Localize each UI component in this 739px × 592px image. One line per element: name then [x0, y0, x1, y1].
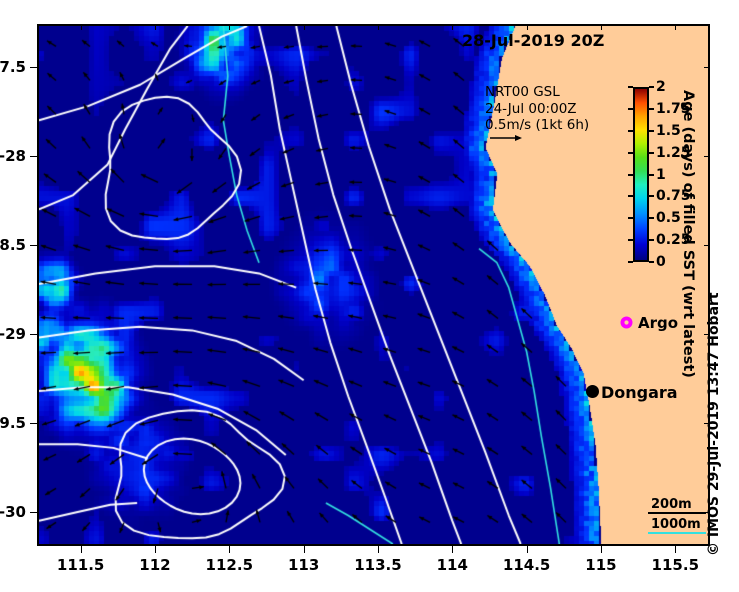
colorbar-tick-label: 2 — [656, 79, 666, 95]
x-axis-tick-top — [155, 24, 156, 30]
y-axis-tick-right — [704, 156, 710, 157]
colorbar-tick-left — [628, 217, 633, 219]
y-axis-tick — [30, 423, 37, 424]
y-axis-tick-right — [704, 245, 710, 246]
colorbar-tick-label: 1.5 — [656, 123, 681, 139]
dongara-city-dot-icon[interactable] — [586, 385, 599, 398]
y-axis-tick — [30, 156, 37, 157]
bathymetry-depth-key: 200m 1000m — [648, 497, 710, 537]
x-axis-label: 113 — [288, 556, 319, 574]
colorbar-tick-left — [628, 108, 633, 110]
colorbar-tick — [649, 152, 654, 154]
x-axis-tick — [304, 546, 305, 553]
colorbar-tick-left — [628, 195, 633, 197]
colorbar-tick-label: 0.5 — [656, 210, 681, 226]
colorbar-tick — [649, 261, 654, 263]
x-axis-tick — [675, 546, 676, 553]
argo-float-star-icon[interactable] — [620, 316, 633, 329]
x-axis-tick — [155, 546, 156, 553]
gsl-speed-label: 0.5m/s (1kt 6h) — [485, 117, 589, 134]
colorbar-tick-left — [628, 239, 633, 241]
colorbar-tick — [649, 239, 654, 241]
gsl-datetime-label: 24-Jul 00:00Z — [485, 101, 589, 118]
y-axis-label: -28 — [0, 147, 26, 165]
colorbar-tick — [649, 174, 654, 176]
colorbar-tick — [649, 195, 654, 197]
velocity-scale-arrow-icon — [489, 133, 523, 143]
dongara-marker-label: Dongara — [601, 383, 678, 402]
depth-key-200m-label: 200m — [651, 497, 692, 512]
depth-key-1000m-label: 1000m — [651, 517, 701, 532]
x-axis-tick-top — [527, 24, 528, 30]
x-axis-tick — [229, 546, 230, 553]
y-axis-tick — [30, 245, 37, 246]
y-axis-label: -28.5 — [0, 236, 26, 254]
y-axis-label: -30 — [0, 503, 26, 521]
x-axis-tick — [452, 546, 453, 553]
map-title-date: 28-Jul-2019 20Z — [462, 31, 604, 50]
colorbar-axis-label: Age (days) of filled SST (wrt latest) — [680, 90, 696, 378]
x-axis-tick — [81, 546, 82, 553]
x-axis-tick-top — [378, 24, 379, 30]
y-axis-label: -27.5 — [0, 58, 26, 76]
colorbar-tick-label: 0 — [656, 254, 666, 270]
colorbar-tick-left — [628, 130, 633, 132]
y-axis-tick — [30, 67, 37, 68]
x-axis-label: 112.5 — [206, 556, 253, 574]
colorbar-tick — [649, 217, 654, 219]
colorbar-tick-left — [628, 174, 633, 176]
gsl-annotation-block: NRT00 GSL 24-Jul 00:00Z 0.5m/s (1kt 6h) — [485, 84, 589, 134]
colorbar-tick — [649, 130, 654, 132]
x-axis-tick-top — [81, 24, 82, 30]
x-axis-label: 114 — [437, 556, 468, 574]
colorbar-tick-left — [628, 86, 633, 88]
colorbar-tick — [649, 108, 654, 110]
sst-age-map-figure: 111.5112112.5113113.5114114.5115115.5-27… — [0, 0, 739, 592]
sst-age-raster — [39, 26, 708, 544]
y-axis-label: -29 — [0, 325, 26, 343]
depth-key-1000m: 1000m — [648, 517, 710, 537]
x-axis-label: 115.5 — [652, 556, 699, 574]
depth-key-200m-line — [648, 512, 706, 514]
x-axis-tick — [378, 546, 379, 553]
x-axis-tick-top — [452, 24, 453, 30]
y-axis-tick — [30, 334, 37, 335]
x-axis-label: 112 — [139, 556, 170, 574]
colorbar-gradient — [633, 87, 649, 262]
x-axis-tick — [527, 546, 528, 553]
depth-key-200m: 200m — [648, 497, 710, 517]
x-axis-tick-top — [601, 24, 602, 30]
depth-key-1000m-line — [648, 532, 706, 534]
x-axis-tick-top — [229, 24, 230, 30]
colorbar-tick-left — [628, 152, 633, 154]
x-axis-tick-top — [304, 24, 305, 30]
y-axis-tick-right — [704, 67, 710, 68]
x-axis-label: 111.5 — [57, 556, 104, 574]
y-axis-label: -29.5 — [0, 414, 26, 432]
copyright-notice: © IMOS 29-Jul-2019 13:47 Hobart — [706, 292, 722, 556]
x-axis-label: 115 — [585, 556, 616, 574]
colorbar-tick-left — [628, 261, 633, 263]
map-plot-area[interactable] — [37, 24, 710, 546]
y-axis-tick — [30, 512, 37, 513]
argo-marker-label: Argo — [638, 314, 678, 332]
x-axis-tick-top — [675, 24, 676, 30]
x-axis-label: 114.5 — [503, 556, 550, 574]
colorbar-tick-label: 1 — [656, 167, 666, 183]
x-axis-label: 113.5 — [354, 556, 401, 574]
x-axis-tick — [601, 546, 602, 553]
gsl-product-label: NRT00 GSL — [485, 84, 589, 101]
colorbar-tick — [649, 86, 654, 88]
